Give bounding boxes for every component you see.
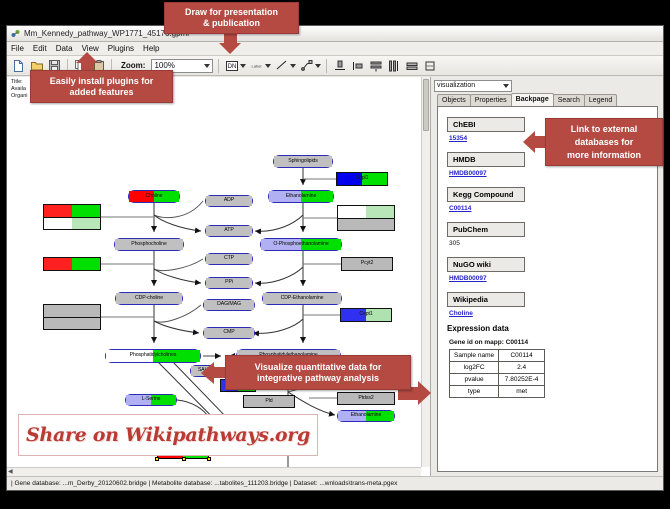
expression-row: pvalue7.80252E-4	[450, 374, 545, 386]
node-label: L-Serine	[142, 397, 161, 402]
backpage-header-nugo-wiki: NuGO wiki	[447, 257, 525, 272]
node-label: Ethanolamine	[351, 413, 382, 418]
annotation-share-text: Share on Wikipathways.org	[26, 424, 310, 446]
node-label: O-Phosphoethanolamine	[273, 242, 328, 247]
node-label: CDP-Ethanolamine	[281, 296, 324, 301]
chevron-down-icon[interactable]	[265, 64, 271, 68]
node-label: DAG/MAG	[217, 302, 241, 307]
toolbar-separator-3	[218, 59, 219, 73]
backpage-header-hmdb: HMDB	[447, 152, 525, 167]
backpage-link-wikipedia[interactable]: Choline	[449, 310, 657, 317]
gene-stack-row[interactable]: Pcyt1a	[44, 317, 100, 329]
label-tool-icon[interactable]: Label	[249, 58, 264, 74]
gene-stack-row[interactable]: Chka	[44, 217, 100, 229]
svg-text:Label: Label	[252, 63, 262, 68]
expression-table: Sample nameC00114log2FC2.4pvalue7.80252E…	[449, 349, 545, 398]
backpage-link-nugo-wiki[interactable]: HMDB00097	[449, 275, 657, 282]
expression-row: log2FC2.4	[450, 362, 545, 374]
visualization-row: visualization	[431, 77, 663, 92]
menu-item-plugins[interactable]: Plugins	[107, 44, 135, 53]
annotation-plugins-text: Easily install plugins for added feature…	[50, 76, 154, 98]
menu-item-help[interactable]: Help	[142, 44, 160, 53]
annotation-plugins: Easily install plugins for added feature…	[30, 70, 173, 103]
node-label: Ethanolamine	[286, 194, 317, 199]
distribute-vertical-icon[interactable]	[368, 58, 383, 74]
tab-backpage[interactable]: Backpage	[511, 93, 554, 106]
annotation-plugins-arrow-head	[76, 52, 98, 63]
annotation-draw-text: Draw for presentation & publication	[185, 7, 278, 29]
backpage-section-nugo-wiki: NuGO wikiHMDB00097	[447, 254, 657, 282]
annotation-expression-arrow-head	[418, 381, 431, 405]
metabolite-node-cdp-choline[interactable]: CDP-choline	[115, 292, 183, 305]
tab-legend[interactable]: Legend	[584, 94, 617, 106]
node-label: CDP-choline	[135, 296, 163, 301]
canvas-vertical-scrollbar[interactable]: ▲	[421, 77, 430, 467]
metabolite-node-atp[interactable]: ATP	[205, 225, 253, 237]
annotation-visualize-text: Visualize quantitative data for integrat…	[255, 362, 382, 384]
expression-value: 2.4	[499, 362, 545, 374]
backpage-header-wikipedia: Wikipedia	[447, 292, 525, 307]
metabolite-node-cmp[interactable]: CMP	[203, 327, 255, 339]
tab-search[interactable]: Search	[553, 94, 585, 106]
node-label: Choline	[146, 194, 163, 199]
expression-row: Sample nameC00114	[450, 350, 545, 362]
tab-objects[interactable]: Objects	[437, 94, 471, 106]
expression-key: type	[450, 386, 499, 398]
gene-node-pld[interactable]: Pld	[243, 395, 295, 408]
annotation-visualize: Visualize quantitative data for integrat…	[225, 355, 411, 390]
status-bar: | Gene database: ...m_Derby_20120602.bri…	[7, 476, 663, 490]
metabolite-node-o-phosphoethanolamine[interactable]: O-Phosphoethanolamine	[260, 238, 342, 251]
chevron-down-icon[interactable]	[503, 84, 509, 88]
datanode-tool[interactable]: DN	[224, 58, 246, 74]
chevron-down-icon[interactable]	[290, 64, 296, 68]
node-label: Sphingolipids	[288, 159, 318, 164]
visualization-value: visualization	[437, 82, 475, 89]
node-label: CTP	[224, 256, 234, 261]
annotation-link-arrow-head	[523, 131, 535, 153]
metabolite-node-phosphatidylcholines[interactable]: Phosphatidylcholines	[105, 349, 201, 363]
meta-title: Title:	[11, 79, 28, 86]
scroll-left-icon[interactable]: ◀	[7, 468, 421, 476]
canvas-horizontal-scrollbar[interactable]: ◀	[7, 467, 421, 476]
anchor-tool[interactable]	[299, 58, 321, 74]
meta-availability: Availa	[11, 86, 28, 93]
metabolite-node-choline-top[interactable]: Choline	[128, 190, 180, 203]
node-label: CMP	[223, 330, 234, 335]
meta-organism: Organi	[11, 93, 28, 100]
zoom-value: 100%	[154, 61, 174, 70]
node-label: PPi	[225, 280, 233, 285]
backpage-header-chebi: ChEBI	[447, 117, 525, 132]
node-label: Sgpl1	[356, 176, 369, 181]
line-tool[interactable]	[274, 58, 296, 74]
node-label: Phosphatidylcholines	[130, 353, 177, 358]
selection-handle-6[interactable]	[182, 457, 186, 461]
metabolite-node-ppi[interactable]: PPi	[205, 277, 253, 289]
gene-node-cept1[interactable]: Cept1	[340, 308, 392, 322]
menu-item-data[interactable]: Data	[55, 44, 74, 53]
gene-stack-row[interactable]: Chkb	[44, 205, 100, 217]
gene-id-line: Gene id on mapp: C00114	[449, 339, 657, 346]
menu-item-file[interactable]: File	[10, 44, 25, 53]
zoom-label: Zoom:	[121, 61, 145, 70]
svg-text:DN: DN	[228, 64, 237, 70]
backpage-header-kegg-compound: Kegg Compound	[447, 187, 525, 202]
visualization-select[interactable]: visualization	[434, 80, 512, 92]
expression-key: pvalue	[450, 374, 499, 386]
chevron-down-icon[interactable]	[315, 64, 321, 68]
gene-node-sgpl1[interactable]: Sgpl1	[336, 172, 388, 186]
same-height-icon[interactable]	[422, 58, 437, 74]
align-left-icon[interactable]	[350, 58, 365, 74]
annotation-link-text: Link to external databases for more info…	[567, 123, 641, 162]
pathvisio-icon	[11, 29, 20, 38]
title-bar: Mm_Kennedy_pathway_WP1771_45176.gpml	[7, 26, 663, 42]
datanode-tool-icon[interactable]: DN	[224, 58, 239, 74]
menu-item-edit[interactable]: Edit	[32, 44, 48, 53]
gene-node-ptdss2[interactable]: Ptdss2	[337, 392, 395, 405]
expression-key: log2FC	[450, 362, 499, 374]
backpage-value-pubchem: 305	[449, 240, 657, 247]
menu-bar: File Edit Data View Plugins Help	[7, 42, 663, 56]
selection-handle-5[interactable]	[155, 457, 159, 461]
metabolite-node-ethanolamine-top[interactable]: Ethanolamine	[268, 190, 334, 203]
metabolite-node-cdp-ethanolamine[interactable]: CDP-Ethanolamine	[262, 292, 342, 305]
gene-stack-row[interactable]: Chpt1	[44, 258, 100, 270]
metabolite-node-ethanolamine-right[interactable]: Ethanolamine	[337, 410, 395, 422]
backpage-link-kegg-compound[interactable]: C00114	[449, 205, 657, 212]
expression-value: 7.80252E-4	[499, 374, 545, 386]
node-label: Cept1	[359, 312, 372, 317]
expression-row: typemet	[450, 386, 545, 398]
chevron-down-icon[interactable]	[240, 64, 246, 68]
node-label: Pcyt2	[361, 261, 373, 266]
backpage-section-pubchem: PubChem305	[447, 219, 657, 247]
node-label: Phosphocholine	[131, 242, 167, 247]
line-tool-icon[interactable]	[274, 58, 289, 74]
new-file-icon[interactable]	[11, 58, 26, 74]
metabolite-node-phosphocholine[interactable]: Phosphocholine	[114, 238, 184, 251]
status-text: | Gene database: ...m_Derby_20120602.bri…	[11, 480, 397, 487]
chevron-down-icon[interactable]	[204, 64, 210, 68]
backpage-link-hmdb[interactable]: HMDB00097	[449, 170, 657, 177]
align-top-icon[interactable]	[332, 58, 347, 74]
annotation-share: Share on Wikipathways.org	[18, 414, 318, 456]
metabolite-node-adp[interactable]: ADP	[205, 195, 253, 207]
annotation-link: Link to external databases for more info…	[545, 118, 663, 166]
same-width-icon[interactable]	[404, 58, 419, 74]
metabolite-node-l-serine-left[interactable]: L-Serine	[125, 394, 177, 406]
side-panel-tabs: Objects Properties Backpage Search Legen…	[431, 92, 663, 106]
node-label: ADP	[224, 198, 234, 203]
metabolite-node-dagmag[interactable]: DAG/MAG	[203, 299, 255, 311]
distribute-horizontal-icon[interactable]	[386, 58, 401, 74]
toolbar-separator-4	[326, 59, 327, 73]
gene-stack-row[interactable]: Etnk1	[338, 206, 394, 218]
gene-stack-row[interactable]: Pcyt1b	[44, 305, 100, 317]
gene-stack-etnk1-etnk2[interactable]: Etnk1Etnk2	[337, 205, 395, 231]
expression-value: met	[499, 386, 545, 398]
pathway-meta: Title: Availa Organi	[11, 79, 28, 100]
expression-key: Sample name	[450, 350, 499, 362]
tab-properties[interactable]: Properties	[470, 94, 512, 106]
backpage-section-kegg-compound: Kegg CompoundC00114	[447, 184, 657, 212]
gene-node-pcyt2[interactable]: Pcyt2	[341, 257, 393, 271]
annotation-draw-arrow-head	[219, 43, 241, 54]
expression-data-title: Expression data	[447, 324, 657, 333]
node-label: Pld	[265, 399, 272, 404]
metabolite-node-sphingolipids[interactable]: Sphingolipids	[273, 155, 333, 168]
anchor-tool-icon[interactable]	[299, 58, 314, 74]
annotation-visualize-arrow-head	[201, 362, 214, 384]
metabolite-node-ctp[interactable]: CTP	[205, 253, 253, 265]
backpage-header-pubchem: PubChem	[447, 222, 525, 237]
node-label: Ptdss2	[358, 396, 373, 401]
gene-stack-chkb-chka[interactable]: ChkbChka	[43, 204, 101, 230]
annotation-draw: Draw for presentation & publication	[164, 2, 299, 34]
node-label: ATP	[224, 228, 233, 233]
scrollbar-thumb[interactable]	[423, 79, 429, 131]
expression-value: C00114	[499, 350, 545, 362]
gene-stack-pcyt1b-pcyt1a[interactable]: Pcyt1bPcyt1a	[43, 304, 101, 330]
selection-handle-7[interactable]	[207, 457, 211, 461]
gene-stack-chpt1[interactable]: Chpt1	[43, 257, 101, 271]
label-tool[interactable]: Label	[249, 58, 271, 74]
gene-stack-row[interactable]: Etnk2	[338, 218, 394, 230]
backpage-section-wikipedia: WikipediaCholine	[447, 289, 657, 317]
